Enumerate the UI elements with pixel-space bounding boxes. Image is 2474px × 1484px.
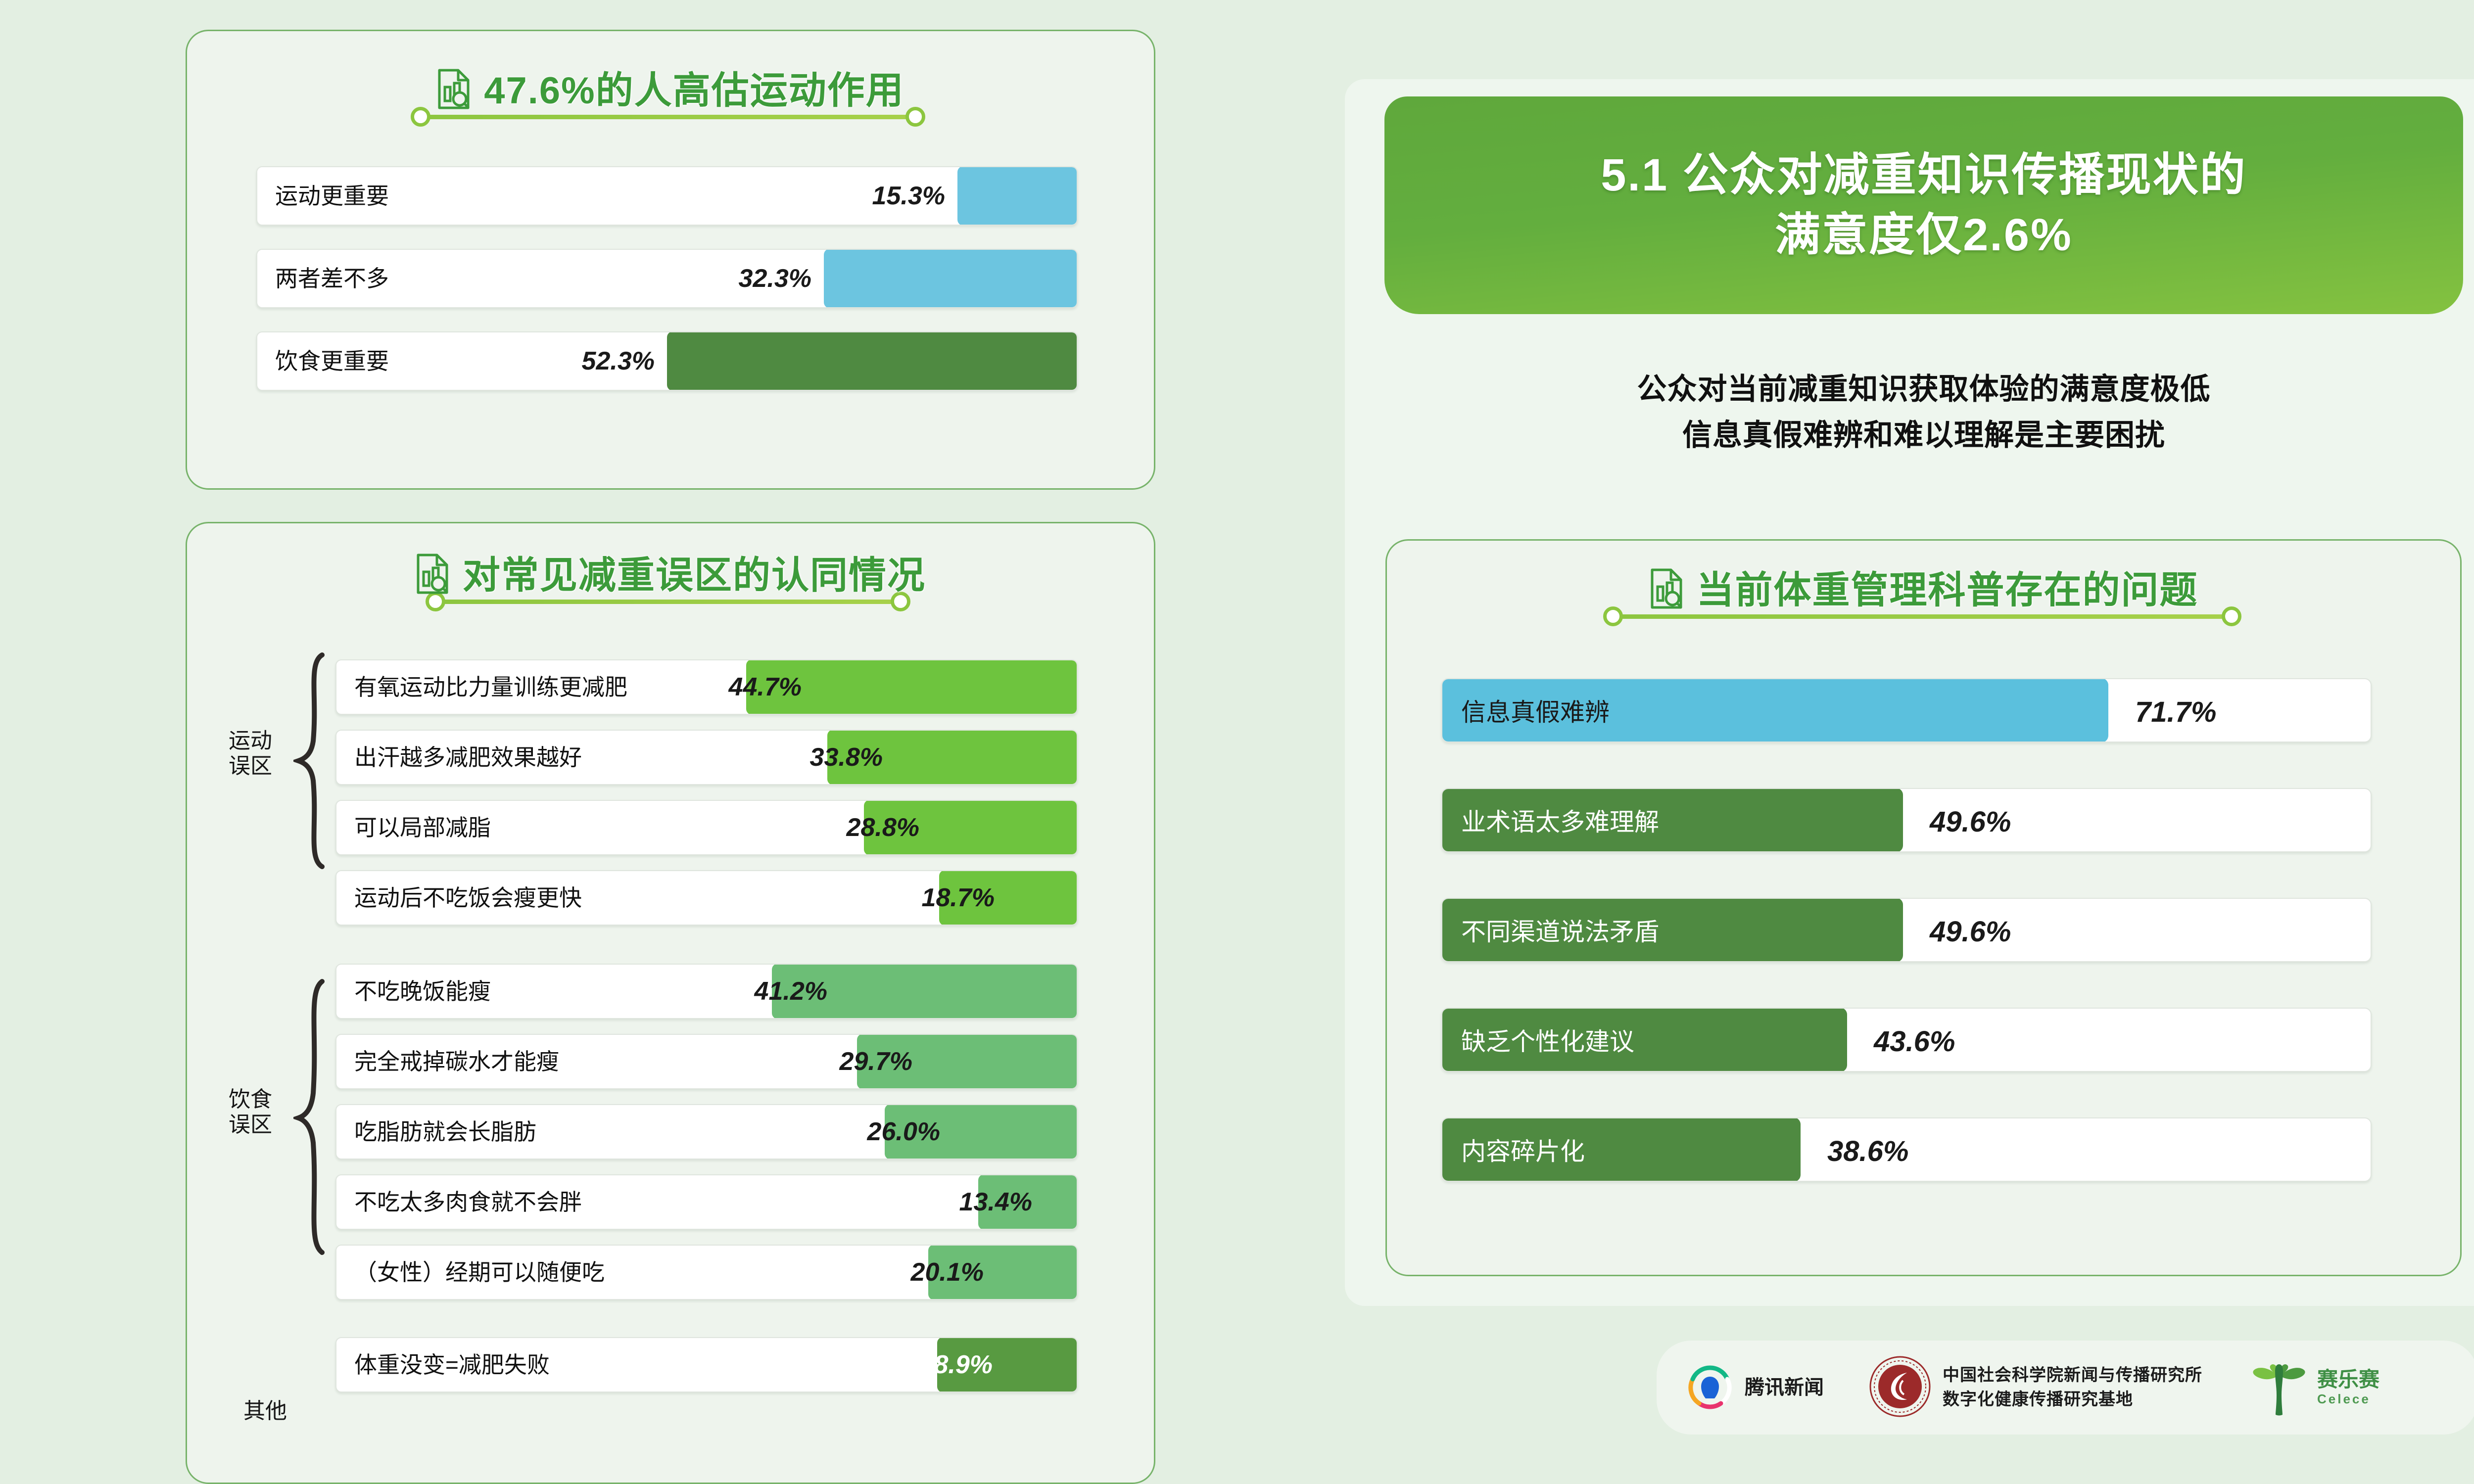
bar-value: 29.7% <box>840 1049 912 1074</box>
bar-label: 体重没变=减肥失败 <box>354 1353 550 1376</box>
bar-fill <box>957 166 1078 226</box>
bar-value: 15.3% <box>872 183 945 209</box>
bar-label: 可以局部减脂 <box>354 816 491 839</box>
bar-value: 49.6% <box>1930 808 2011 836</box>
section-title-problems: 当前体重管理科普存在的问题 <box>1387 568 2460 626</box>
footer-logo-bar: 腾讯新闻 中国社会科学院新闻与传播研究所 数字化健康传播研究基地 <box>1657 1341 2474 1435</box>
bar-label: 缺乏个性化建议 <box>1461 1029 1634 1054</box>
bar-label: 完全戒掉碳水才能瘦 <box>354 1050 559 1073</box>
table-row: 完全戒掉碳水才能瘦 29.7% <box>335 1034 1078 1089</box>
bar-value: 20.1% <box>911 1259 984 1285</box>
table-row: 两者差不多 32.3% <box>256 249 1078 308</box>
bar-value: 28.8% <box>847 815 919 840</box>
title-dot-right <box>905 107 925 127</box>
bar-value: 32.3% <box>739 266 811 291</box>
bar-value: 41.2% <box>755 978 827 1004</box>
cass-label: 中国社会科学院新闻与传播研究所 数字化健康传播研究基地 <box>1943 1363 2202 1412</box>
bar-value: 71.7% <box>2135 698 2216 727</box>
bar-label: 不同渠道说法矛盾 <box>1461 920 1659 944</box>
table-row: 不同渠道说法矛盾 49.6% <box>1441 898 2372 962</box>
table-row: 内容碎片化 38.6% <box>1441 1117 2372 1182</box>
bar-label: （女性）经期可以随便吃 <box>354 1261 605 1284</box>
bar-value: 26.0% <box>867 1119 940 1145</box>
bar-label: 内容碎片化 <box>1461 1139 1585 1164</box>
title-dot-left <box>411 107 430 127</box>
bar-value: 49.6% <box>1930 918 2011 946</box>
bar-label: 业术语太多难理解 <box>1461 810 1659 835</box>
table-row: 业术语太多难理解 49.6% <box>1441 788 2372 852</box>
tencent-news-logo <box>1686 1363 1734 1413</box>
subtitle-line-1: 公众对当前减重知识获取体验的满意度极低 <box>1637 372 2211 406</box>
bar-label: 有氧运动比力量训练更减肥 <box>354 676 627 698</box>
bar-label: 两者差不多 <box>275 267 389 290</box>
bar-fill <box>824 249 1078 308</box>
group-label-other: 其他 <box>206 1399 325 1424</box>
table-row: 信息真假难辨 71.7% <box>1441 678 2372 742</box>
table-row: 体重没变=减肥失败 18.9% <box>335 1337 1078 1392</box>
bar-label: 运动更重要 <box>275 185 389 207</box>
bar-label: 不吃晚饭能瘦 <box>354 980 491 1003</box>
group-brace-diet <box>293 978 328 1255</box>
bar-label: 信息真假难辨 <box>1461 700 1610 725</box>
bar-value: 18.9% <box>920 1352 993 1378</box>
table-row: 运动后不吃饭会瘦更快 18.7% <box>335 870 1078 926</box>
bar-value: 13.4% <box>959 1189 1032 1215</box>
tencent-news-label: 腾讯新闻 <box>1745 1373 1824 1402</box>
header-line-1: 5.1 公众对减重知识传播现状的 <box>1601 145 2246 205</box>
group-brace-exercise <box>293 652 328 870</box>
section-title-myths: 对常见减重误区的认同情况 <box>187 553 1154 611</box>
group-label-diet-myths: 饮食 误区 <box>206 1087 295 1137</box>
table-row: 运动更重要 15.3% <box>256 166 1078 226</box>
celece-butterfly-logo <box>2252 1357 2306 1418</box>
bar-value: 38.6% <box>1827 1137 1908 1166</box>
section-title-text: 对常见减重误区的认同情况 <box>463 557 926 595</box>
title-rule <box>434 600 909 604</box>
section-subtitle: 公众对当前减重知识获取体验的满意度极低 信息真假难辨和难以理解是主要困扰 <box>1384 366 2463 458</box>
bar-label: 运动后不吃饭会瘦更快 <box>354 886 582 909</box>
table-row: 不吃太多肉食就不会胖 13.4% <box>335 1174 1078 1230</box>
title-dot-right <box>2222 606 2241 626</box>
cass-seal-logo <box>1868 1355 1932 1421</box>
group-label-exercise-myths: 运动 误区 <box>206 729 295 779</box>
bar-label: 饮食更重要 <box>275 350 389 372</box>
document-search-icon <box>1649 568 1684 609</box>
card-exercise-importance: 47.6%的人高估运动作用 运动更重要 15.3% 两者差不多 32.3% 饮食… <box>186 30 1155 490</box>
bar-label: 不吃太多肉食就不会胖 <box>354 1191 582 1213</box>
section-title-exercise: 47.6%的人高估运动作用 <box>187 68 1154 127</box>
bar-value: 44.7% <box>729 674 802 700</box>
table-row: （女性）经期可以随便吃 20.1% <box>335 1245 1078 1300</box>
table-row: 有氧运动比力量训练更减肥 44.7% <box>335 659 1078 715</box>
bar-value: 52.3% <box>582 348 655 374</box>
header-line-2: 满意度仅2.6% <box>1775 205 2073 265</box>
bar-fill <box>667 331 1078 391</box>
table-row: 饮食更重要 52.3% <box>256 331 1078 391</box>
card-weightloss-myths: 对常见减重误区的认同情况 运动 误区 饮食 误区 其他 <box>186 522 1155 1484</box>
title-dot-left <box>1603 606 1623 626</box>
infographic-page: 47.6%的人高估运动作用 运动更重要 15.3% 两者差不多 32.3% 饮食… <box>0 0 2474 1484</box>
bar-value: 18.7% <box>922 885 995 911</box>
logo-celece: 赛乐赛 Celece <box>2252 1357 2379 1418</box>
logo-tencent-news: 腾讯新闻 <box>1686 1363 1824 1413</box>
logo-cass: 中国社会科学院新闻与传播研究所 数字化健康传播研究基地 <box>1868 1355 2202 1421</box>
title-rule <box>420 115 924 119</box>
bar-value: 33.8% <box>810 744 883 770</box>
section-header-51: 5.1 公众对减重知识传播现状的 满意度仅2.6% <box>1384 96 2463 314</box>
table-row: 不吃晚饭能瘦 41.2% <box>335 964 1078 1019</box>
table-row: 可以局部减脂 28.8% <box>335 800 1078 855</box>
table-row: 吃脂肪就会长脂肪 26.0% <box>335 1104 1078 1159</box>
title-rule <box>1612 614 2240 619</box>
bar-label: 出汗越多减肥效果越好 <box>354 746 582 769</box>
bar-value: 43.6% <box>1874 1027 1955 1056</box>
celece-label: 赛乐赛 Celece <box>2317 1368 2379 1406</box>
card-science-problems: 当前体重管理科普存在的问题 信息真假难辨 71.7% 业术语太多难理解 49.6… <box>1385 539 2462 1276</box>
document-search-icon <box>436 68 471 110</box>
table-row: 出汗越多减肥效果越好 33.8% <box>335 730 1078 785</box>
subtitle-line-2: 信息真假难辨和难以理解是主要困扰 <box>1682 418 2165 452</box>
section-title-text: 当前体重管理科普存在的问题 <box>1697 572 2198 609</box>
document-search-icon <box>415 553 450 595</box>
table-row: 缺乏个性化建议 43.6% <box>1441 1008 2372 1072</box>
bar-label: 吃脂肪就会长脂肪 <box>354 1120 536 1143</box>
section-title-text: 47.6%的人高估运动作用 <box>484 72 904 110</box>
